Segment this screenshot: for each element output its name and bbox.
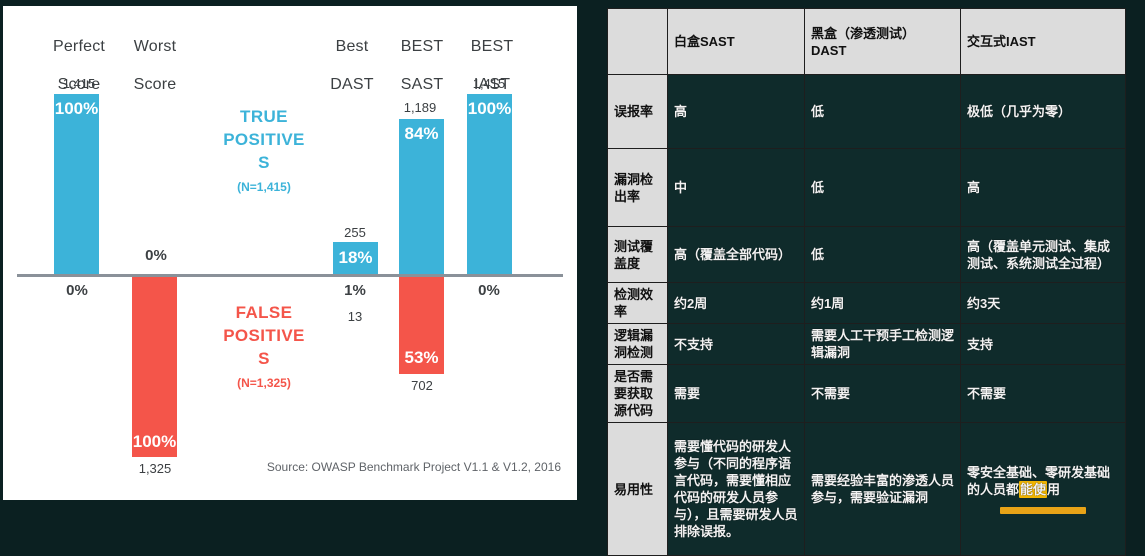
slide-root: Perfect Score Worst Score Best DAST BEST… bbox=[0, 0, 1145, 520]
bar-best-iast-true-positive: 100% bbox=[467, 94, 512, 274]
perfect-score-fp-percent: 0% bbox=[49, 282, 105, 299]
best-dast-bottom-count: 13 bbox=[327, 309, 383, 324]
column-header-dast: 黑盒（渗透测试） DAST bbox=[805, 9, 961, 75]
table-corner-cell bbox=[608, 9, 668, 75]
chart-header-best-sast: BEST SAST bbox=[384, 18, 460, 113]
column-header-dast-label: 黑盒（渗透测试） bbox=[811, 25, 954, 42]
cell-iast: 支持 bbox=[961, 324, 1126, 365]
best-sast-fp-percent: 53% bbox=[399, 348, 444, 368]
tp-line2: POSITIVE bbox=[208, 128, 320, 151]
best-iast-tp-percent: 100% bbox=[467, 99, 512, 119]
fp-line2: POSITIVE bbox=[208, 324, 320, 347]
header-line2: DAST bbox=[314, 75, 390, 94]
sast-dast-iast-comparison-table: 白盒SAST 黑盒（渗透测试） DAST 交互式IAST 误报率 高 低 极低（… bbox=[607, 8, 1126, 506]
worst-score-tp-percent: 0% bbox=[128, 247, 184, 264]
tp-line1: TRUE bbox=[208, 105, 320, 128]
cell-dast: 低 bbox=[805, 149, 961, 227]
cell-dast: 不需要 bbox=[805, 365, 961, 423]
fp-line1: FALSE bbox=[208, 301, 320, 324]
table-row-usability: 易用性 需要懂代码的研发人参与（不同的程序语言代码，需要懂相应代码的研发人员参与… bbox=[608, 423, 1126, 556]
header-line1: Perfect bbox=[35, 37, 123, 56]
cell-sast: 需要 bbox=[668, 365, 805, 423]
column-header-iast-label: 交互式IAST bbox=[967, 33, 1119, 50]
best-iast-fp-percent: 0% bbox=[461, 282, 517, 299]
table-row-test-coverage: 测试覆盖度 高（覆盖全部代码） 低 高（覆盖单元测试、集成测试、系统测试全过程） bbox=[608, 227, 1126, 283]
table-row-needs-source-code: 是否需要获取源代码 需要 不需要 不需要 bbox=[608, 365, 1126, 423]
cell-dast: 约1周 bbox=[805, 283, 961, 324]
best-sast-bottom-count: 702 bbox=[393, 378, 451, 393]
fp-line3: S bbox=[208, 347, 320, 370]
row-header: 易用性 bbox=[608, 423, 668, 556]
chart-source-caption: Source: OWASP Benchmark Project V1.1 & V… bbox=[267, 460, 561, 474]
tp-line3: S bbox=[208, 151, 320, 174]
bar-perfect-score-true-positive: 100% bbox=[54, 94, 99, 274]
header-line2: SAST bbox=[384, 75, 460, 94]
table-row-false-positive-rate: 误报率 高 低 极低（几乎为零） bbox=[608, 75, 1126, 149]
cell-dast: 需要经验丰富的渗透人员参与，需要验证漏洞 bbox=[805, 423, 961, 556]
tp-sample-size: (N=1,415) bbox=[208, 176, 320, 199]
cell-iast: 高 bbox=[961, 149, 1126, 227]
cell-sast: 中 bbox=[668, 149, 805, 227]
table-row-detection-efficiency: 检测效率 约2周 约1周 约3天 bbox=[608, 283, 1126, 324]
column-header-iast: 交互式IAST bbox=[961, 9, 1126, 75]
chart-header-worst-score: Worst Score bbox=[111, 18, 199, 113]
cell-sast: 高（覆盖全部代码） bbox=[668, 227, 805, 283]
false-positives-annotation: FALSE POSITIVE S (N=1,325) bbox=[208, 301, 320, 395]
header-line1: Worst bbox=[111, 37, 199, 56]
bar-best-sast-false-positive: 53% bbox=[399, 277, 444, 374]
cell-sast: 需要懂代码的研发人参与（不同的程序语言代码，需要懂相应代码的研发人员参与），且需… bbox=[668, 423, 805, 556]
column-header-sast: 白盒SAST bbox=[668, 9, 805, 75]
cell-iast: 极低（几乎为零） bbox=[961, 75, 1126, 149]
best-iast-top-count: 1,415 bbox=[458, 76, 520, 91]
zero-axis-line bbox=[17, 274, 563, 277]
yellow-underline-annotation bbox=[1000, 507, 1086, 514]
best-dast-fp-percent: 1% bbox=[327, 282, 383, 299]
perfect-score-top-count: 1,415 bbox=[49, 76, 109, 91]
perfect-score-tp-percent: 100% bbox=[54, 99, 99, 119]
table-header-row: 白盒SAST 黑盒（渗透测试） DAST 交互式IAST bbox=[608, 9, 1126, 75]
row-header: 测试覆盖度 bbox=[608, 227, 668, 283]
column-header-sast-label: 白盒SAST bbox=[674, 33, 798, 50]
cell-dast: 需要人工干预手工检测逻辑漏洞 bbox=[805, 324, 961, 365]
cell-dast: 低 bbox=[805, 75, 961, 149]
true-positives-annotation: TRUE POSITIVE S (N=1,415) bbox=[208, 105, 320, 199]
cell-iast: 不需要 bbox=[961, 365, 1126, 423]
usability-iast-text-part2: 用 bbox=[1047, 482, 1060, 497]
best-sast-tp-percent: 84% bbox=[399, 124, 444, 144]
worst-score-bottom-count: 1,325 bbox=[125, 461, 185, 476]
header-line1: Best bbox=[314, 37, 390, 56]
cell-dast: 低 bbox=[805, 227, 961, 283]
table-row-detection-rate: 漏洞检出率 中 低 高 bbox=[608, 149, 1126, 227]
best-dast-top-count: 255 bbox=[325, 225, 385, 240]
fp-sample-size: (N=1,325) bbox=[208, 372, 320, 395]
header-line1: BEST bbox=[384, 37, 460, 56]
column-header-dast-sub: DAST bbox=[811, 42, 954, 59]
bar-best-dast-true-positive: 18% bbox=[333, 242, 378, 274]
chart-header-best-dast: Best DAST bbox=[314, 18, 390, 113]
bar-worst-score-false-positive: 100% bbox=[132, 277, 177, 457]
cell-sast: 约2周 bbox=[668, 283, 805, 324]
worst-score-fp-percent: 100% bbox=[132, 432, 177, 452]
usability-iast-highlight: 能使 bbox=[1019, 481, 1047, 498]
bar-best-sast-true-positive: 84% bbox=[399, 119, 444, 274]
header-line2: Score bbox=[111, 75, 199, 94]
row-header: 漏洞检出率 bbox=[608, 149, 668, 227]
cell-sast: 高 bbox=[668, 75, 805, 149]
best-dast-tp-percent: 18% bbox=[333, 248, 378, 268]
row-header: 检测效率 bbox=[608, 283, 668, 324]
table-row-logic-flaw-detection: 逻辑漏洞检测 不支持 需要人工干预手工检测逻辑漏洞 支持 bbox=[608, 324, 1126, 365]
cell-iast: 零安全基础、零研发基础的人员都能使用 bbox=[961, 423, 1126, 556]
cell-iast: 高（覆盖单元测试、集成测试、系统测试全过程） bbox=[961, 227, 1126, 283]
best-sast-top-count: 1,189 bbox=[389, 100, 451, 115]
cell-iast: 约3天 bbox=[961, 283, 1126, 324]
cell-sast: 不支持 bbox=[668, 324, 805, 365]
header-line1: BEST bbox=[454, 37, 530, 56]
row-header: 误报率 bbox=[608, 75, 668, 149]
row-header: 逻辑漏洞检测 bbox=[608, 324, 668, 365]
owasp-benchmark-chart: Perfect Score Worst Score Best DAST BEST… bbox=[3, 6, 577, 500]
row-header: 是否需要获取源代码 bbox=[608, 365, 668, 423]
